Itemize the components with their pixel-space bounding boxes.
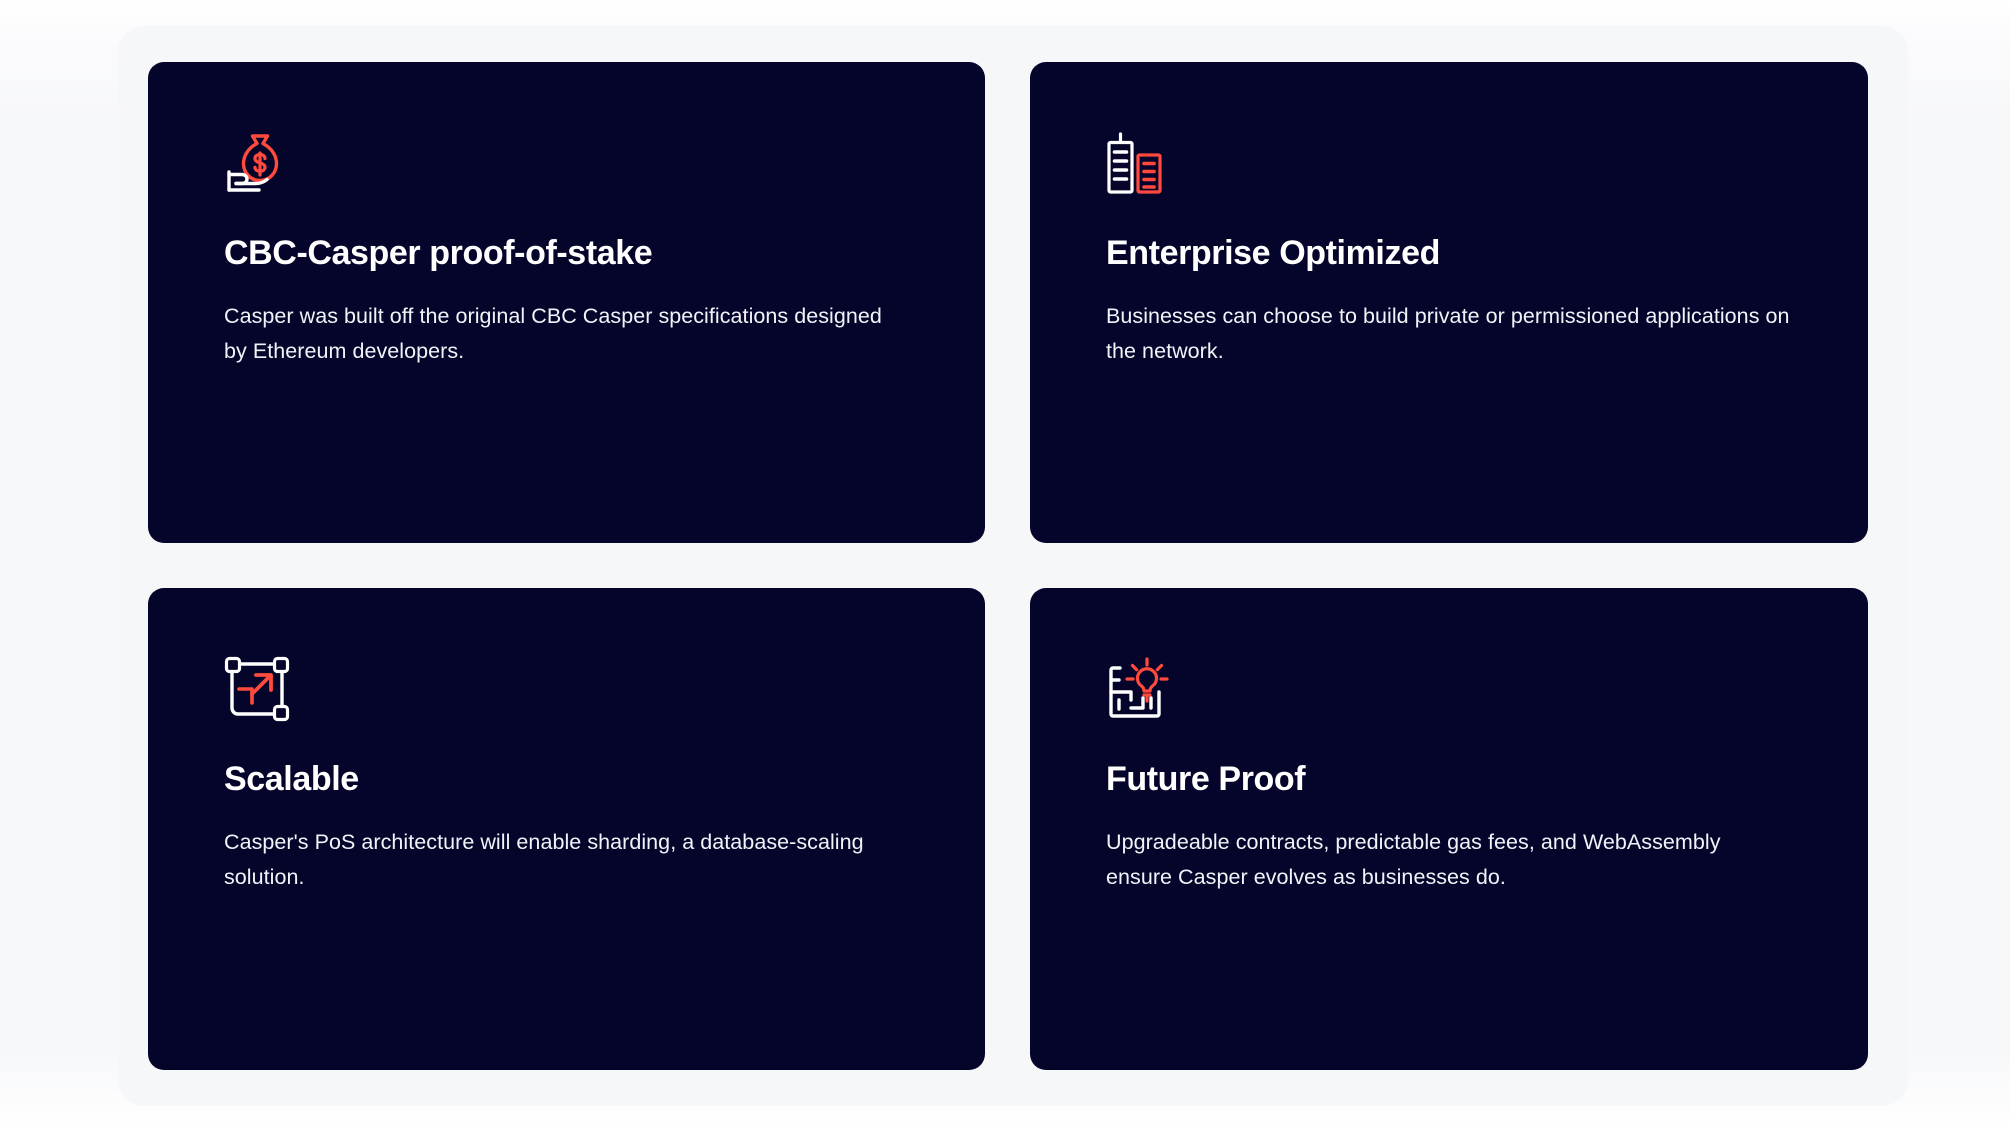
scale-arrow-icon: [224, 656, 290, 722]
card-title: Future Proof: [1106, 760, 1792, 799]
feature-card-cbc-casper[interactable]: CBC-Casper proof-of-stake Casper was bui…: [148, 62, 985, 543]
card-title: Scalable: [224, 760, 909, 799]
feature-card-enterprise-optimized[interactable]: Enterprise Optimized Businesses can choo…: [1030, 62, 1868, 543]
office-buildings-icon: [1106, 130, 1172, 196]
feature-card-future-proof[interactable]: Future Proof Upgradeable contracts, pred…: [1030, 588, 1868, 1070]
card-title: CBC-Casper proof-of-stake: [224, 234, 909, 273]
blueprint-lightbulb-icon: [1106, 656, 1172, 722]
card-description: Businesses can choose to build private o…: [1106, 299, 1792, 369]
feature-card-scalable[interactable]: Scalable Casper's PoS architecture will …: [148, 588, 985, 1070]
card-description: Casper's PoS architecture will enable sh…: [224, 825, 909, 895]
feature-card-grid: CBC-Casper proof-of-stake Casper was bui…: [148, 62, 1868, 1070]
money-bag-icon: [224, 130, 290, 196]
card-title: Enterprise Optimized: [1106, 234, 1792, 273]
card-description: Casper was built off the original CBC Ca…: [224, 299, 909, 369]
card-description: Upgradeable contracts, predictable gas f…: [1106, 825, 1792, 895]
